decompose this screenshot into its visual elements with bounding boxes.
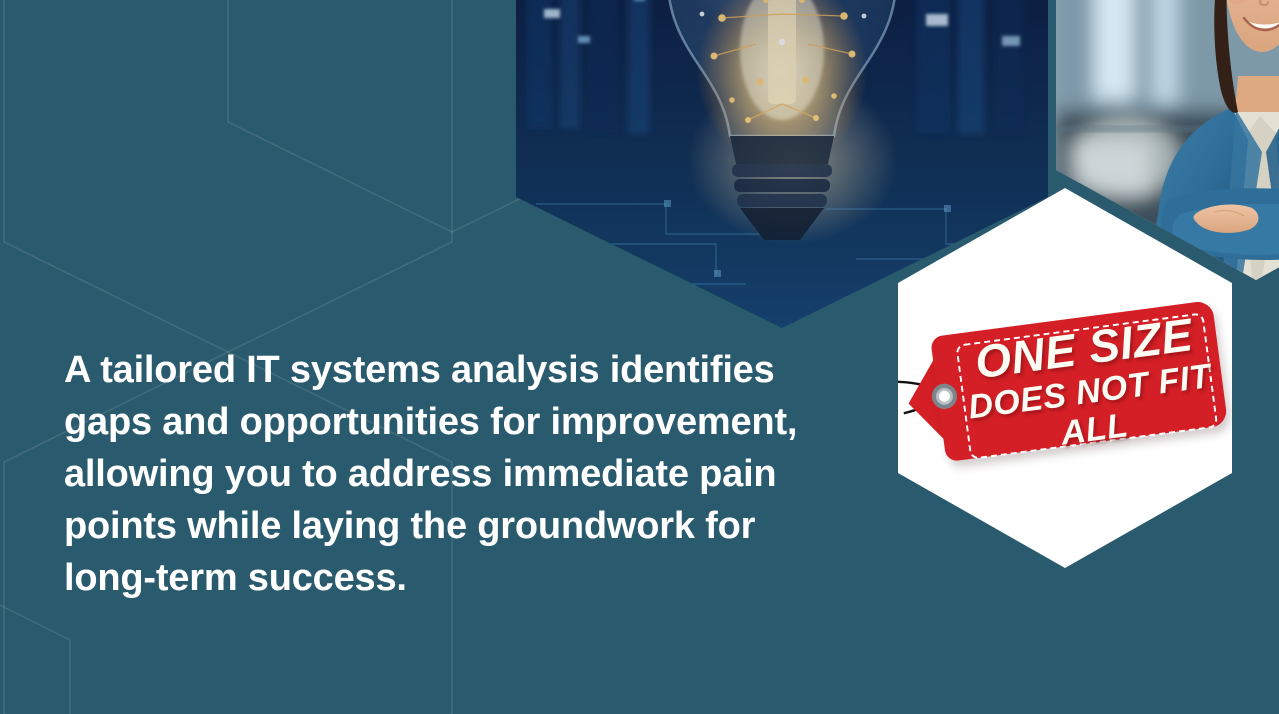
headline-text: A tailored IT systems analysis identifie… bbox=[64, 344, 824, 604]
price-tag-graphic: ONE SIZE DOES NOT FIT ALL bbox=[898, 294, 1232, 485]
tag-text-block: ONE SIZE DOES NOT FIT ALL bbox=[959, 309, 1219, 464]
slide-canvas: ONE SIZE DOES NOT FIT ALL A tailored IT … bbox=[0, 0, 1279, 714]
bulb-base bbox=[730, 136, 834, 240]
